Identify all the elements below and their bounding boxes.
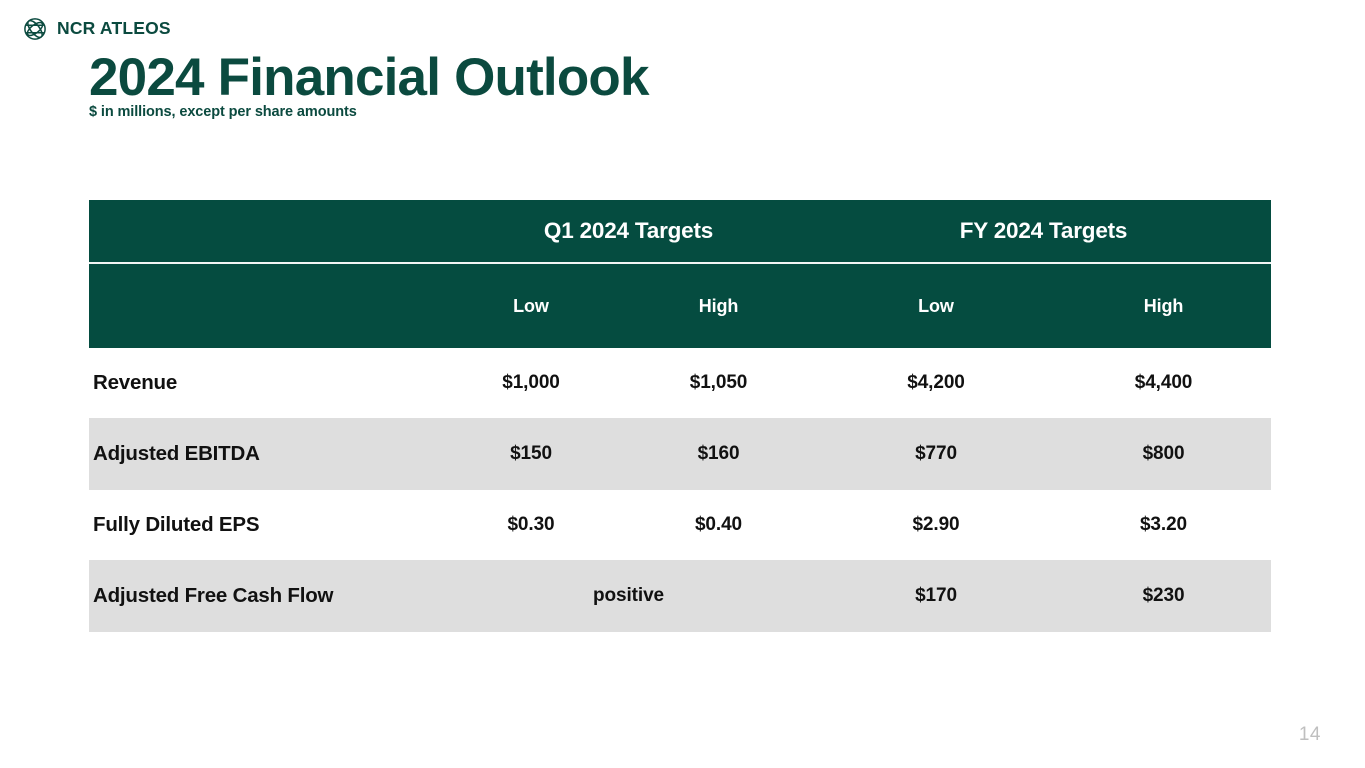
cell-fy-high: $4,400: [1056, 372, 1271, 394]
cell-value: $4,200: [907, 372, 965, 393]
column-header-q1-high: High: [621, 296, 816, 317]
cell-q1-low: $0.30: [441, 514, 621, 536]
group-header-q1-label: Q1 2024 Targets: [544, 218, 713, 243]
cell-q1-low: $150: [441, 443, 621, 465]
table-row: Adjusted EBITDA $150 $160 $770 $800: [89, 418, 1271, 490]
cell-value: $160: [698, 443, 740, 464]
cell-fy-low: $770: [816, 443, 1056, 465]
cell-fy-low: $4,200: [816, 372, 1056, 394]
column-header-fy-high: High: [1056, 296, 1271, 317]
column-header-fy-low: Low: [816, 296, 1056, 317]
group-header-fy: FY 2024 Targets: [816, 218, 1271, 244]
row-label-cell: Revenue: [89, 371, 441, 395]
table-header-groups: Q1 2024 Targets FY 2024 Targets: [89, 200, 1271, 262]
cell-value: $170: [915, 585, 957, 606]
table-header: Q1 2024 Targets FY 2024 Targets Low High…: [89, 200, 1271, 348]
cell-fy-high: $800: [1056, 443, 1271, 465]
column-header-q1-high-label: High: [699, 296, 739, 316]
cell-fy-high: $3.20: [1056, 514, 1271, 536]
brand-wordmark: NCR ATLEOS: [57, 20, 171, 38]
cell-fy-low: $2.90: [816, 514, 1056, 536]
row-label-cell: Adjusted Free Cash Flow: [89, 584, 441, 608]
cell-value: positive: [593, 585, 664, 606]
page-title: 2024 Financial Outlook: [89, 50, 649, 106]
cell-value: $230: [1143, 585, 1185, 606]
table-row: Adjusted Free Cash Flow positive $170 $2…: [89, 560, 1271, 632]
cell-q1-high: $0.40: [621, 514, 816, 536]
cell-value: $4,400: [1135, 372, 1193, 393]
page-number: 14: [1299, 724, 1321, 746]
page-subtitle: $ in millions, except per share amounts: [89, 104, 357, 121]
column-header-fy-low-label: Low: [918, 296, 954, 316]
financial-outlook-table: Q1 2024 Targets FY 2024 Targets Low High…: [89, 200, 1271, 632]
row-label: Fully Diluted EPS: [93, 513, 259, 536]
cell-value: $150: [510, 443, 552, 464]
row-label: Revenue: [93, 371, 177, 394]
group-header-fy-label: FY 2024 Targets: [960, 218, 1128, 243]
table-row: Revenue $1,000 $1,050 $4,200 $4,400: [89, 348, 1271, 418]
row-label: Adjusted EBITDA: [93, 442, 260, 465]
cell-value: $1,000: [502, 372, 560, 393]
cell-value: $3.20: [1140, 514, 1187, 535]
column-header-fy-high-label: High: [1144, 296, 1184, 316]
globe-icon: [22, 16, 48, 42]
cell-value: $770: [915, 443, 957, 464]
row-label-cell: Fully Diluted EPS: [89, 513, 441, 537]
cell-q1-high: $160: [621, 443, 816, 465]
column-header-q1-low-label: Low: [513, 296, 549, 316]
cell-q1-high: $1,050: [621, 372, 816, 394]
table-row: Fully Diluted EPS $0.30 $0.40 $2.90 $3.2…: [89, 490, 1271, 560]
cell-fy-low: $170: [816, 585, 1056, 607]
cell-value: $800: [1143, 443, 1185, 464]
cell-value: $1,050: [690, 372, 748, 393]
column-header-q1-low: Low: [441, 296, 621, 317]
brand-logo: NCR ATLEOS: [22, 16, 171, 42]
cell-value: $0.30: [507, 514, 554, 535]
row-label: Adjusted Free Cash Flow: [93, 584, 333, 607]
cell-q1-merged: positive: [441, 585, 816, 607]
cell-value: $0.40: [695, 514, 742, 535]
row-label-cell: Adjusted EBITDA: [89, 442, 441, 466]
table-header-columns: Low High Low High: [89, 264, 1271, 348]
cell-fy-high: $230: [1056, 585, 1271, 607]
cell-value: $2.90: [912, 514, 959, 535]
group-header-q1: Q1 2024 Targets: [441, 218, 816, 244]
cell-q1-low: $1,000: [441, 372, 621, 394]
